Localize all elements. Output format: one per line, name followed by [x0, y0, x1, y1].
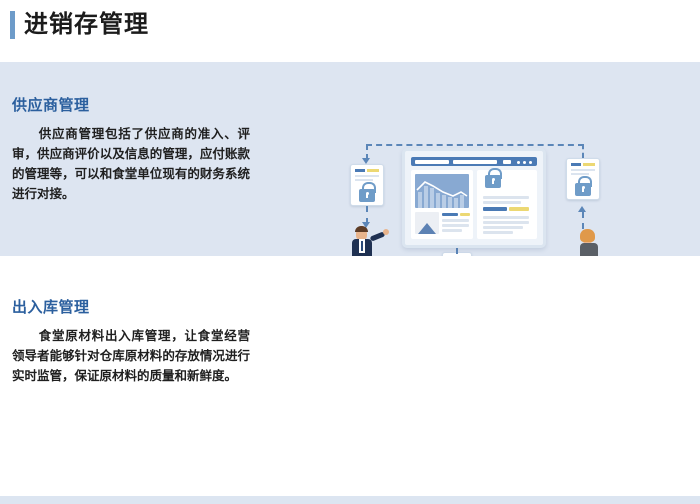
- document-card-lock-right: [566, 158, 600, 200]
- card-bar-yellow: [583, 163, 595, 166]
- section-stock-management: 出入库管理 食堂原材料出入库管理，让食堂经营领导者能够针对仓库原材料的存放情况进…: [0, 256, 700, 496]
- section-supplier-management: 供应商管理 供应商管理包括了供应商的准入、评审，供应商评价以及信息的管理，应付账…: [0, 62, 700, 256]
- section-body-supplier-text: 供应商管理包括了供应商的准入、评审，供应商评价以及信息的管理，应付账款的管理等，…: [12, 127, 250, 201]
- browser-title-bar: [411, 157, 537, 166]
- figure-hair: [355, 226, 368, 232]
- footer-band: [0, 496, 700, 504]
- panel-line: [483, 226, 523, 229]
- document-card-lock-left: [350, 164, 384, 206]
- page-title: 进销存管理: [24, 8, 149, 42]
- image-thumbnail-widget: [415, 212, 439, 234]
- page-header: 进销存管理: [0, 0, 700, 62]
- lock-body: [485, 175, 501, 188]
- card-bar-blue: [571, 163, 581, 166]
- card-line: [355, 175, 379, 177]
- browser-dot: [529, 161, 532, 164]
- widget-line: [442, 224, 469, 227]
- bar-chart-widget: [415, 174, 469, 208]
- card-bar-yellow: [367, 169, 379, 172]
- header-accent-bar: [10, 11, 15, 39]
- widget-line: [442, 229, 462, 232]
- browser-address-field: [415, 160, 449, 164]
- browser-tab-field: [453, 160, 497, 164]
- dashboard-left-panel: [411, 170, 473, 239]
- panel-line: [483, 221, 529, 224]
- dashboard-right-panel: [477, 170, 537, 239]
- widget-bar-blue: [442, 213, 458, 216]
- figure-hair: [580, 229, 595, 242]
- lock-body: [359, 189, 375, 202]
- chart-trend-line: [415, 174, 469, 208]
- card-line: [355, 179, 373, 181]
- lock-keyhole-stem: [582, 188, 584, 192]
- widget-bar-yellow: [460, 213, 470, 216]
- card-bar-blue: [355, 169, 365, 172]
- lock-keyhole-stem: [492, 180, 494, 184]
- panel-line: [483, 231, 513, 234]
- page-root: 进销存管理 供应商管理 供应商管理包括了供应商的准入、评审，供应商评价以及信息的…: [0, 0, 700, 504]
- dashboard-browser-window: [402, 148, 546, 248]
- figure-tie: [361, 241, 363, 251]
- flow-line-top: [366, 144, 584, 146]
- lock-keyhole-stem: [366, 194, 368, 198]
- flow-line-top-right-down: [582, 144, 584, 158]
- section-body-stock: 食堂原材料出入库管理，让食堂经营领导者能够针对仓库原材料的存放情况进行实时监管，…: [12, 326, 250, 386]
- card-line: [571, 173, 589, 175]
- panel-line: [483, 201, 521, 204]
- panel-line: [483, 196, 529, 199]
- browser-dot: [523, 161, 526, 164]
- section-body-supplier: 供应商管理包括了供应商的准入、评审，供应商评价以及信息的管理，应付账款的管理等，…: [12, 124, 250, 204]
- panel-bar-blue: [483, 207, 507, 211]
- browser-dot: [517, 161, 520, 164]
- widget-line: [442, 219, 469, 222]
- figure-hand: [383, 229, 389, 235]
- section-heading-stock: 出入库管理: [12, 296, 90, 317]
- panel-line: [483, 216, 529, 219]
- lock-body: [575, 183, 591, 196]
- flow-arrow-up-right: [578, 206, 586, 212]
- section-heading-supplier: 供应商管理: [12, 94, 90, 115]
- section-body-stock-text: 食堂原材料出入库管理，让食堂经营领导者能够针对仓库原材料的存放情况进行实时监管，…: [12, 329, 250, 383]
- card-line: [571, 169, 595, 171]
- panel-bar-yellow: [509, 207, 529, 211]
- thumbnail-mountain: [418, 223, 436, 234]
- browser-button-field: [503, 160, 511, 164]
